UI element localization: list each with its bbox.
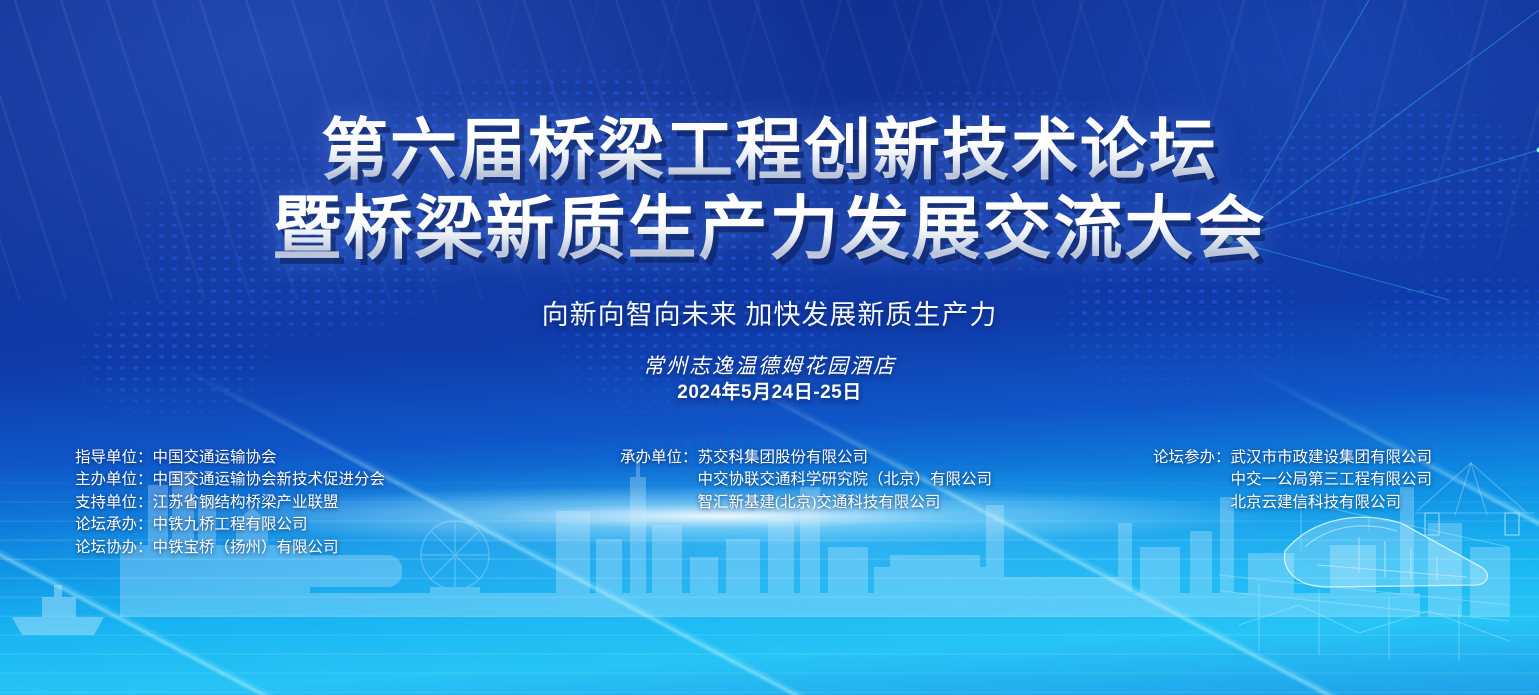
title-line-2: 暨桥梁新质生产力发展交流大会	[0, 190, 1539, 268]
organizer-column-right: 论坛参办：武汉市市政建设集团有限公司论坛参办：中交一公局第三工程有限公司论坛参办…	[1153, 447, 1432, 514]
organizer-row: 论坛参办：武汉市市政建设集团有限公司	[1153, 447, 1432, 469]
organizer-value: 中国交通运输协会	[153, 447, 277, 469]
organizer-label: 主办单位：	[75, 469, 153, 491]
organizer-value: 武汉市市政建设集团有限公司	[1231, 447, 1433, 469]
organizer-row: 承办单位：智汇新基建(北京)交通科技有限公司	[620, 492, 992, 514]
organizer-value: 北京云建信科技有限公司	[1231, 492, 1402, 514]
organizer-row: 承办单位：中交协联交通科学研究院（北京）有限公司	[620, 469, 992, 491]
organizer-row: 论坛参办：北京云建信科技有限公司	[1153, 492, 1432, 514]
organizer-value: 中交协联交通科学研究院（北京）有限公司	[698, 469, 993, 491]
organizer-label: 承办单位：	[620, 447, 698, 469]
organizer-value: 中铁九桥工程有限公司	[153, 514, 308, 536]
organizer-row: 指导单位：中国交通运输协会	[75, 447, 385, 469]
organizer-label: 支持单位：	[75, 492, 153, 514]
organizer-value: 苏交科集团股份有限公司	[698, 447, 869, 469]
venue-block: 常州志逸温德姆花园酒店 2024年5月24日-25日	[0, 352, 1539, 406]
organizer-label: 论坛承办：	[75, 514, 153, 536]
organizer-row: 论坛协办：中铁宝桥（扬州）有限公司	[75, 537, 385, 559]
organizer-row: 论坛承办：中铁九桥工程有限公司	[75, 514, 385, 536]
organizer-column-left: 指导单位：中国交通运输协会主办单位：中国交通运输协会新技术促进分会支持单位：江苏…	[75, 447, 385, 559]
organizer-value: 中铁宝桥（扬州）有限公司	[153, 537, 339, 559]
organizer-row: 主办单位：中国交通运输协会新技术促进分会	[75, 469, 385, 491]
organizer-value: 江苏省钢结构桥梁产业联盟	[153, 492, 339, 514]
conference-banner: 第六届桥梁工程创新技术论坛 暨桥梁新质生产力发展交流大会 向新向智向未来 加快发…	[0, 0, 1539, 695]
organizer-row: 支持单位：江苏省钢结构桥梁产业联盟	[75, 492, 385, 514]
banner-title: 第六届桥梁工程创新技术论坛 暨桥梁新质生产力发展交流大会	[0, 112, 1539, 268]
event-date: 2024年5月24日-25日	[0, 380, 1539, 406]
venue-name: 常州志逸温德姆花园酒店	[0, 352, 1539, 380]
organizer-label: 指导单位：	[75, 447, 153, 469]
organizer-value: 智汇新基建(北京)交通科技有限公司	[698, 492, 941, 514]
organizer-column-center: 承办单位：苏交科集团股份有限公司承办单位：中交协联交通科学研究院（北京）有限公司…	[620, 447, 992, 514]
banner-slogan: 向新向智向未来 加快发展新质生产力	[0, 293, 1539, 332]
title-line-1: 第六届桥梁工程创新技术论坛	[0, 112, 1539, 190]
organizer-label: 论坛参办：	[1153, 447, 1231, 469]
organizer-value: 中交一公局第三工程有限公司	[1231, 469, 1433, 491]
organizer-row: 承办单位：苏交科集团股份有限公司	[620, 447, 992, 469]
organizer-row: 论坛参办：中交一公局第三工程有限公司	[1153, 469, 1432, 491]
organizer-columns: 指导单位：中国交通运输协会主办单位：中国交通运输协会新技术促进分会支持单位：江苏…	[0, 447, 1539, 567]
organizer-label: 论坛协办：	[75, 537, 153, 559]
organizer-value: 中国交通运输协会新技术促进分会	[153, 469, 386, 491]
